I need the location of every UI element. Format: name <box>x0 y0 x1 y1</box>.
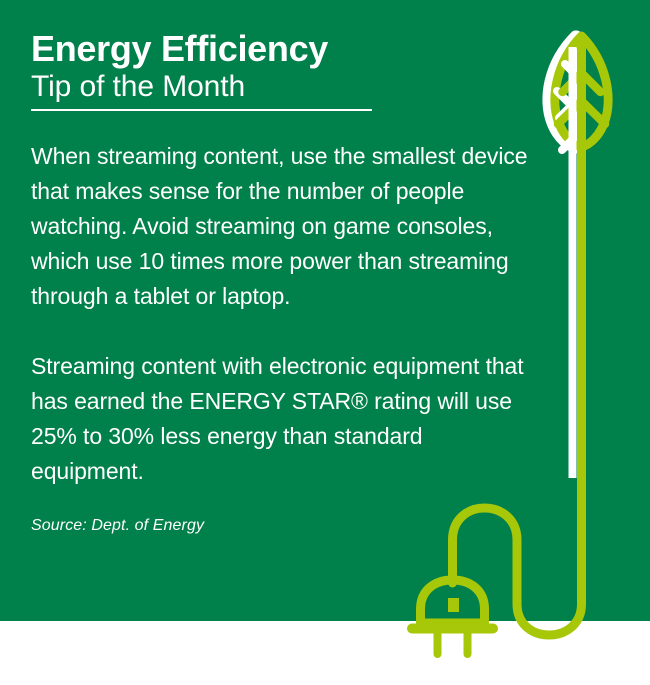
poster-heading: Energy Efficiency Tip of the Month <box>31 30 372 111</box>
energy-efficiency-tip-poster: Energy Efficiency Tip of the Month When … <box>0 0 650 685</box>
poster-content: Energy Efficiency Tip of the Month When … <box>31 30 536 535</box>
page-title: Energy Efficiency <box>31 30 372 69</box>
body-paragraph-1: When streaming content, use the smallest… <box>31 139 534 314</box>
title-divider <box>31 109 372 111</box>
body-paragraph-2: Streaming content with electronic equipm… <box>31 349 534 489</box>
page-subtitle: Tip of the Month <box>31 70 372 104</box>
source-attribution: Source: Dept. of Energy <box>31 517 536 535</box>
